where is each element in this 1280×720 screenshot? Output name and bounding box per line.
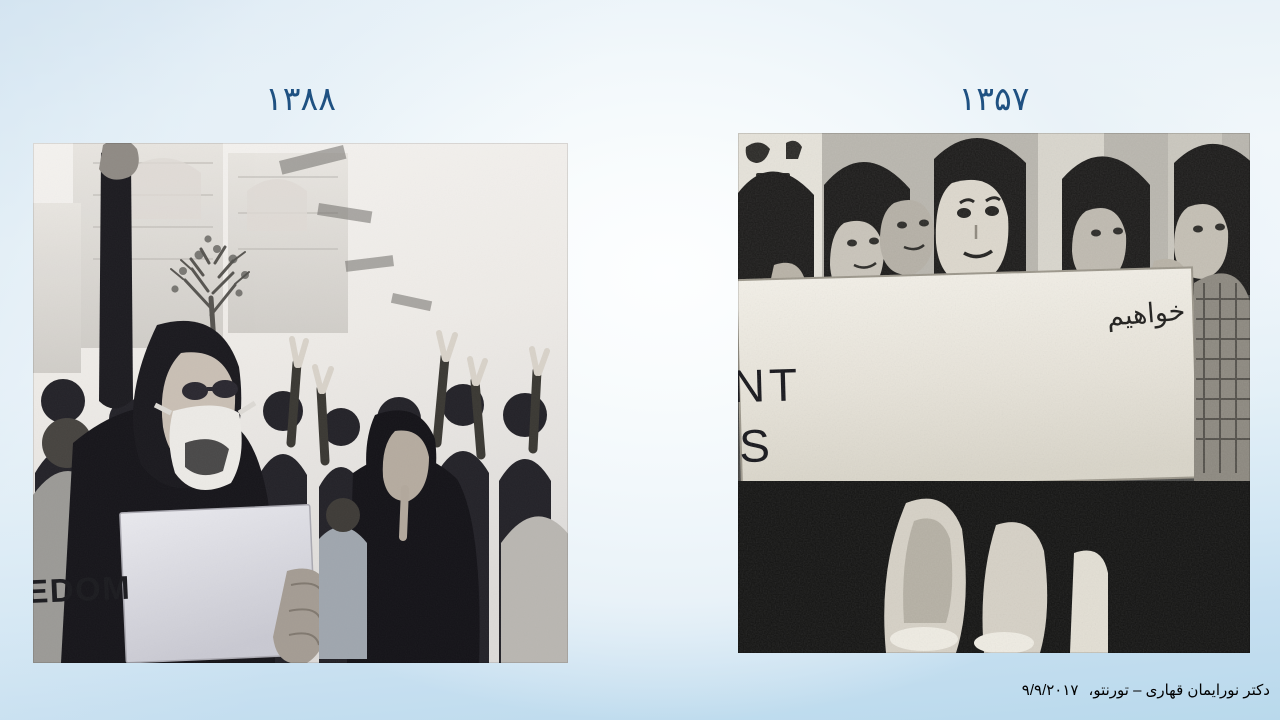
year-heading-left: ۱۳۸۸ <box>33 78 568 120</box>
photo-left-artwork: FREEDOM <box>33 143 568 663</box>
photo-left-protest-1388[interactable]: FREEDOM <box>33 143 568 663</box>
footer: دکتر نورایمان قهاری – تورنتو،۹/۹/۲۰۱۷ <box>630 680 1270 702</box>
photo-right-artwork: ما حقوق برابر می خواهیم WE WANT EQUAL RI… <box>738 133 1250 653</box>
slide-canvas: ۱۳۸۸ ۱۳۵۷ <box>0 0 1280 720</box>
footer-author: دکتر نورایمان قهاری – تورنتو، <box>1088 682 1270 699</box>
year-heading-right: ۱۳۵۷ <box>738 78 1250 120</box>
footer-date: ۹/۹/۲۰۱۷ <box>1022 682 1079 699</box>
photo-right-protest-1357[interactable]: ما حقوق برابر می خواهیم WE WANT EQUAL RI… <box>738 133 1250 653</box>
